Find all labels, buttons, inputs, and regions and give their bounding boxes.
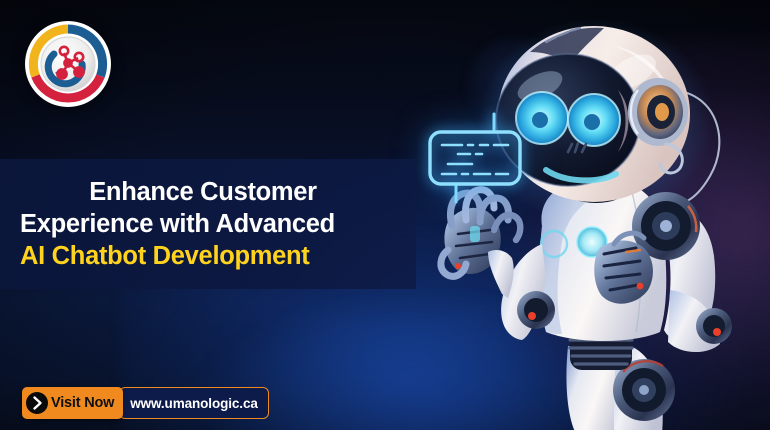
visit-now-button[interactable]: Visit Now (22, 387, 123, 419)
chevron-right-circle-icon (26, 392, 48, 414)
headline-line-2: Experience with Advanced (20, 208, 400, 240)
visit-now-label: Visit Now (51, 395, 114, 411)
umanologic-logo[interactable] (22, 18, 114, 110)
website-url-text: www.umanologic.ca (130, 396, 258, 411)
website-url-box[interactable]: www.umanologic.ca (119, 387, 269, 419)
headline-block: Enhance Customer Experience with Advance… (0, 159, 416, 289)
cta-row: Visit Now www.umanologic.ca (22, 387, 269, 419)
neon-chat-bubble (420, 112, 530, 204)
headline-line-1: Enhance Customer (20, 176, 400, 208)
ai-robot-illustration (418, 0, 770, 430)
headline-line-3: AI Chatbot Development (20, 240, 400, 272)
ai-chatbot-promo-banner: Enhance Customer Experience with Advance… (0, 0, 770, 430)
